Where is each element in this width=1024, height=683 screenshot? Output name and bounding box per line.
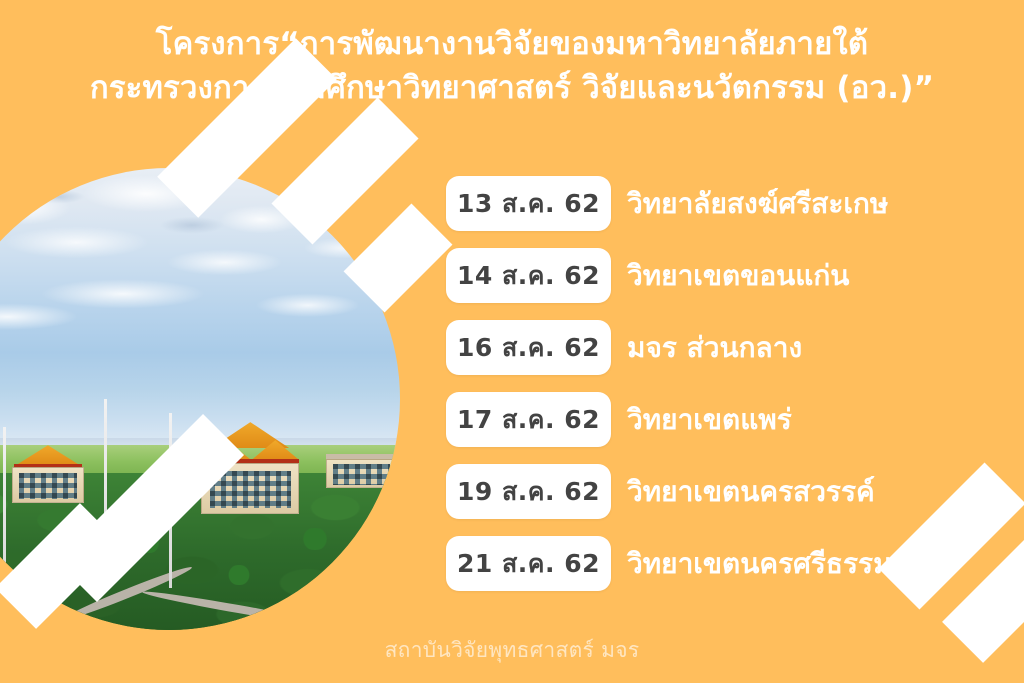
schedule-row: 19 ส.ค. 62วิทยาเขตนครสวรรค์ xyxy=(446,464,941,519)
date-badge[interactable]: 17 ส.ค. 62 xyxy=(446,392,611,447)
schedule-row: 21 ส.ค. 62วิทยาเขตนครศรีธรรมราช xyxy=(446,536,941,591)
photo-clouds xyxy=(0,168,400,454)
photo-flagpole xyxy=(169,413,172,589)
photo-building-left xyxy=(12,445,84,503)
photo-flagpole xyxy=(104,399,107,584)
photo-road xyxy=(0,593,112,630)
photo-road xyxy=(142,588,334,629)
schedule-list: 13 ส.ค. 62วิทยาลัยสงฆ์ศรีสะเกษ14 ส.ค. 62… xyxy=(446,176,941,591)
photo-roof xyxy=(16,445,80,465)
campus-photo xyxy=(0,168,400,630)
photo-flagpole xyxy=(3,427,6,584)
schedule-row: 14 ส.ค. 62วิทยาเขตขอนแก่น xyxy=(446,248,941,303)
date-badge[interactable]: 19 ส.ค. 62 xyxy=(446,464,611,519)
photo-building-temple xyxy=(201,422,299,514)
venue-label: วิทยาเขตขอนแก่น xyxy=(627,262,849,290)
photo-building-body xyxy=(12,467,84,503)
date-badge[interactable]: 14 ส.ค. 62 xyxy=(446,248,611,303)
poster-canvas: โครงการ“การพัฒนางานวิจัยของมหาวิทยาลัยภา… xyxy=(0,0,1024,683)
title-line-2: กระทรวงการอุดมศึกษาวิทยาศาสตร์ วิจัยและน… xyxy=(40,66,984,110)
photo-building-body xyxy=(201,463,299,514)
photo-sky xyxy=(0,168,400,630)
date-badge[interactable]: 21 ส.ค. 62 xyxy=(446,536,611,591)
venue-label: วิทยาเขตนครสวรรค์ xyxy=(627,478,875,506)
schedule-row: 17 ส.ค. 62วิทยาเขตแพร่ xyxy=(446,392,941,447)
footer-organization: สถาบันวิจัยพุทธศาสตร์ มจร xyxy=(0,634,1024,667)
photo-palm xyxy=(132,533,164,553)
photo-building-right xyxy=(326,454,396,488)
page-title: โครงการ“การพัฒนางานวิจัยของมหาวิทยาลัยภา… xyxy=(0,22,1024,110)
venue-label: วิทยาลัยสงฆ์ศรีสะเกษ xyxy=(627,190,888,218)
venue-label: วิทยาเขตนครศรีธรรมราช xyxy=(627,550,941,578)
venue-label: วิทยาเขตแพร่ xyxy=(627,406,792,434)
venue-label: มจร ส่วนกลาง xyxy=(627,334,802,362)
schedule-row: 16 ส.ค. 62มจร ส่วนกลาง xyxy=(446,320,941,375)
photo-building-body xyxy=(326,459,396,488)
date-badge[interactable]: 16 ส.ค. 62 xyxy=(446,320,611,375)
photo-palm xyxy=(40,547,70,567)
title-line-1: โครงการ“การพัฒนางานวิจัยของมหาวิทยาลัยภา… xyxy=(40,22,984,66)
date-badge[interactable]: 13 ส.ค. 62 xyxy=(446,176,611,231)
schedule-row: 13 ส.ค. 62วิทยาลัยสงฆ์ศรีสะเกษ xyxy=(446,176,941,231)
